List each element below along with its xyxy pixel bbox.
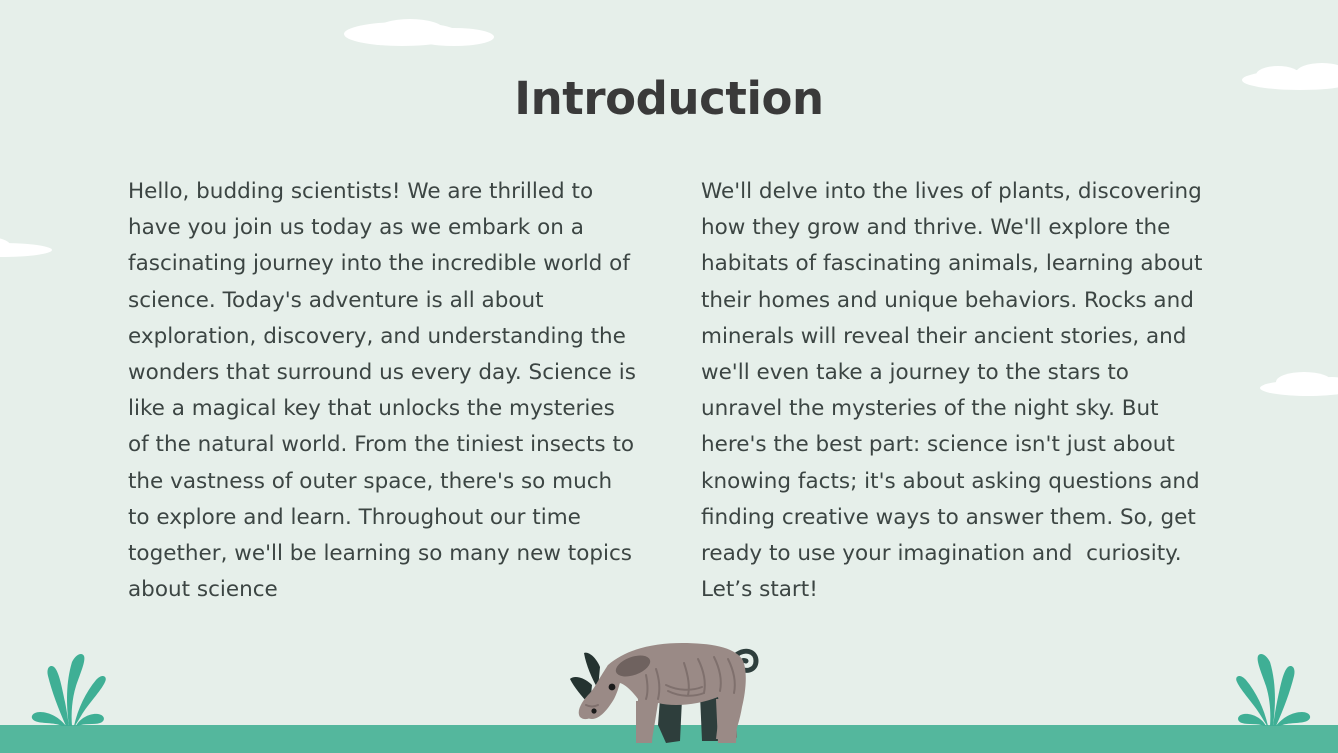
body-columns: Hello, budding scientists! We are thrill… xyxy=(128,174,1210,608)
intro-paragraph-right: We'll delve into the lives of plants, di… xyxy=(701,174,1210,608)
rhino-illustration-icon xyxy=(548,629,778,753)
grass-tuft-left-icon xyxy=(22,652,114,731)
grass-tuft-right-icon xyxy=(1228,652,1320,731)
cloud-icon xyxy=(0,232,58,260)
cloud-icon xyxy=(1258,366,1338,398)
cloud-icon xyxy=(344,10,494,48)
slide-canvas: Introduction Hello, budding scientists! … xyxy=(0,0,1338,753)
intro-paragraph-left: Hello, budding scientists! We are thrill… xyxy=(128,174,637,608)
page-title: Introduction xyxy=(0,72,1338,125)
